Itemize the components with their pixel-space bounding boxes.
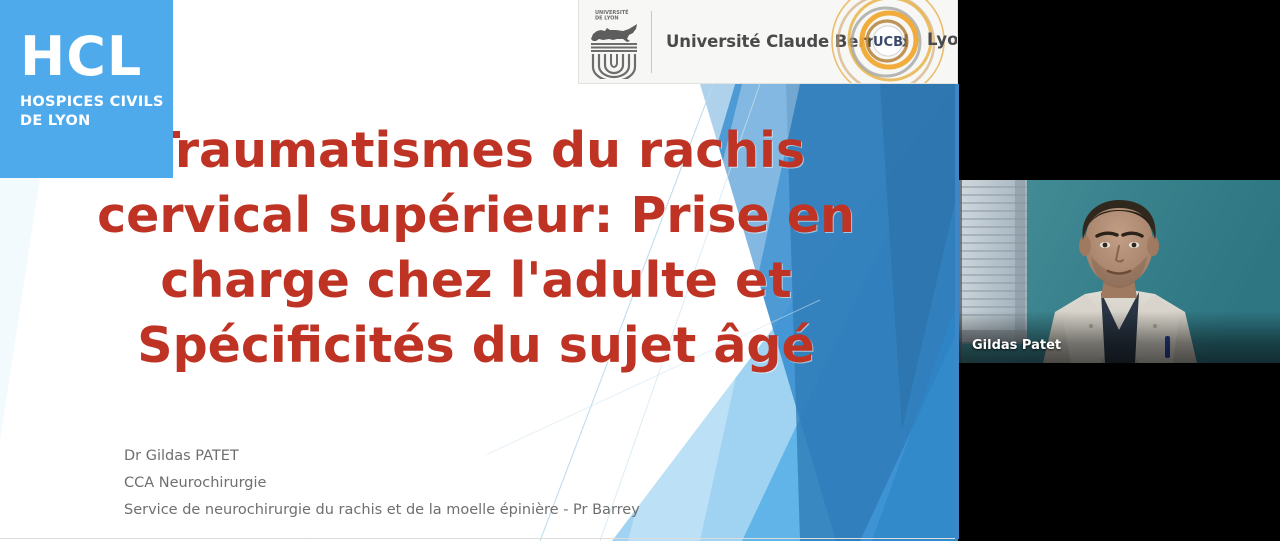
- video-tile-left-edge: [959, 180, 962, 363]
- university-name: Université Claude Bernard: [666, 32, 909, 51]
- title-line-1: Traumatismes du rachis: [96, 118, 856, 183]
- author-name: Dr Gildas PATET: [124, 443, 640, 470]
- author-role: CCA Neurochirurgie: [124, 470, 640, 497]
- screen-share-viewport: HCL HOSPICES CIVILS DE LYON UNIVERSITÉ D…: [0, 0, 1280, 541]
- hcl-logo: HCL HOSPICES CIVILS DE LYON: [0, 0, 173, 178]
- participant-webcam-feed: [959, 180, 1280, 363]
- universite-de-lyon-logo-icon: UNIVERSITÉ DE LYON: [583, 5, 645, 79]
- hcl-subtitle-line-1: HOSPICES CIVILS: [20, 93, 173, 112]
- university-header: UNIVERSITÉ DE LYON Université Claude Ber…: [578, 0, 958, 84]
- shared-slide: HCL HOSPICES CIVILS DE LYON UNIVERSITÉ D…: [0, 0, 958, 541]
- hcl-acronym: HCL: [20, 30, 173, 84]
- author-block: Dr Gildas PATET CCA Neurochirurgie Servi…: [124, 443, 640, 524]
- title-line-2: cervical supérieur: Prise en: [96, 183, 856, 248]
- slide-bottom-rule: [0, 538, 958, 539]
- hcl-subtitle-line-2: DE LYON: [20, 112, 173, 131]
- participant-name-label: Gildas Patet: [972, 338, 1061, 353]
- participant-video-tile[interactable]: Gildas Patet: [959, 180, 1280, 363]
- author-department: Service de neurochirurgie du rachis et d…: [124, 497, 640, 524]
- title-line-4: Spécificités du sujet âgé: [96, 313, 856, 378]
- university-campus: Lyon 1: [927, 30, 958, 49]
- title-line-3: charge chez l'adulte et: [96, 248, 856, 313]
- slide-title: Traumatismes du rachis cervical supérieu…: [96, 118, 856, 378]
- svg-text:DE LYON: DE LYON: [595, 15, 619, 21]
- header-divider: [651, 11, 652, 73]
